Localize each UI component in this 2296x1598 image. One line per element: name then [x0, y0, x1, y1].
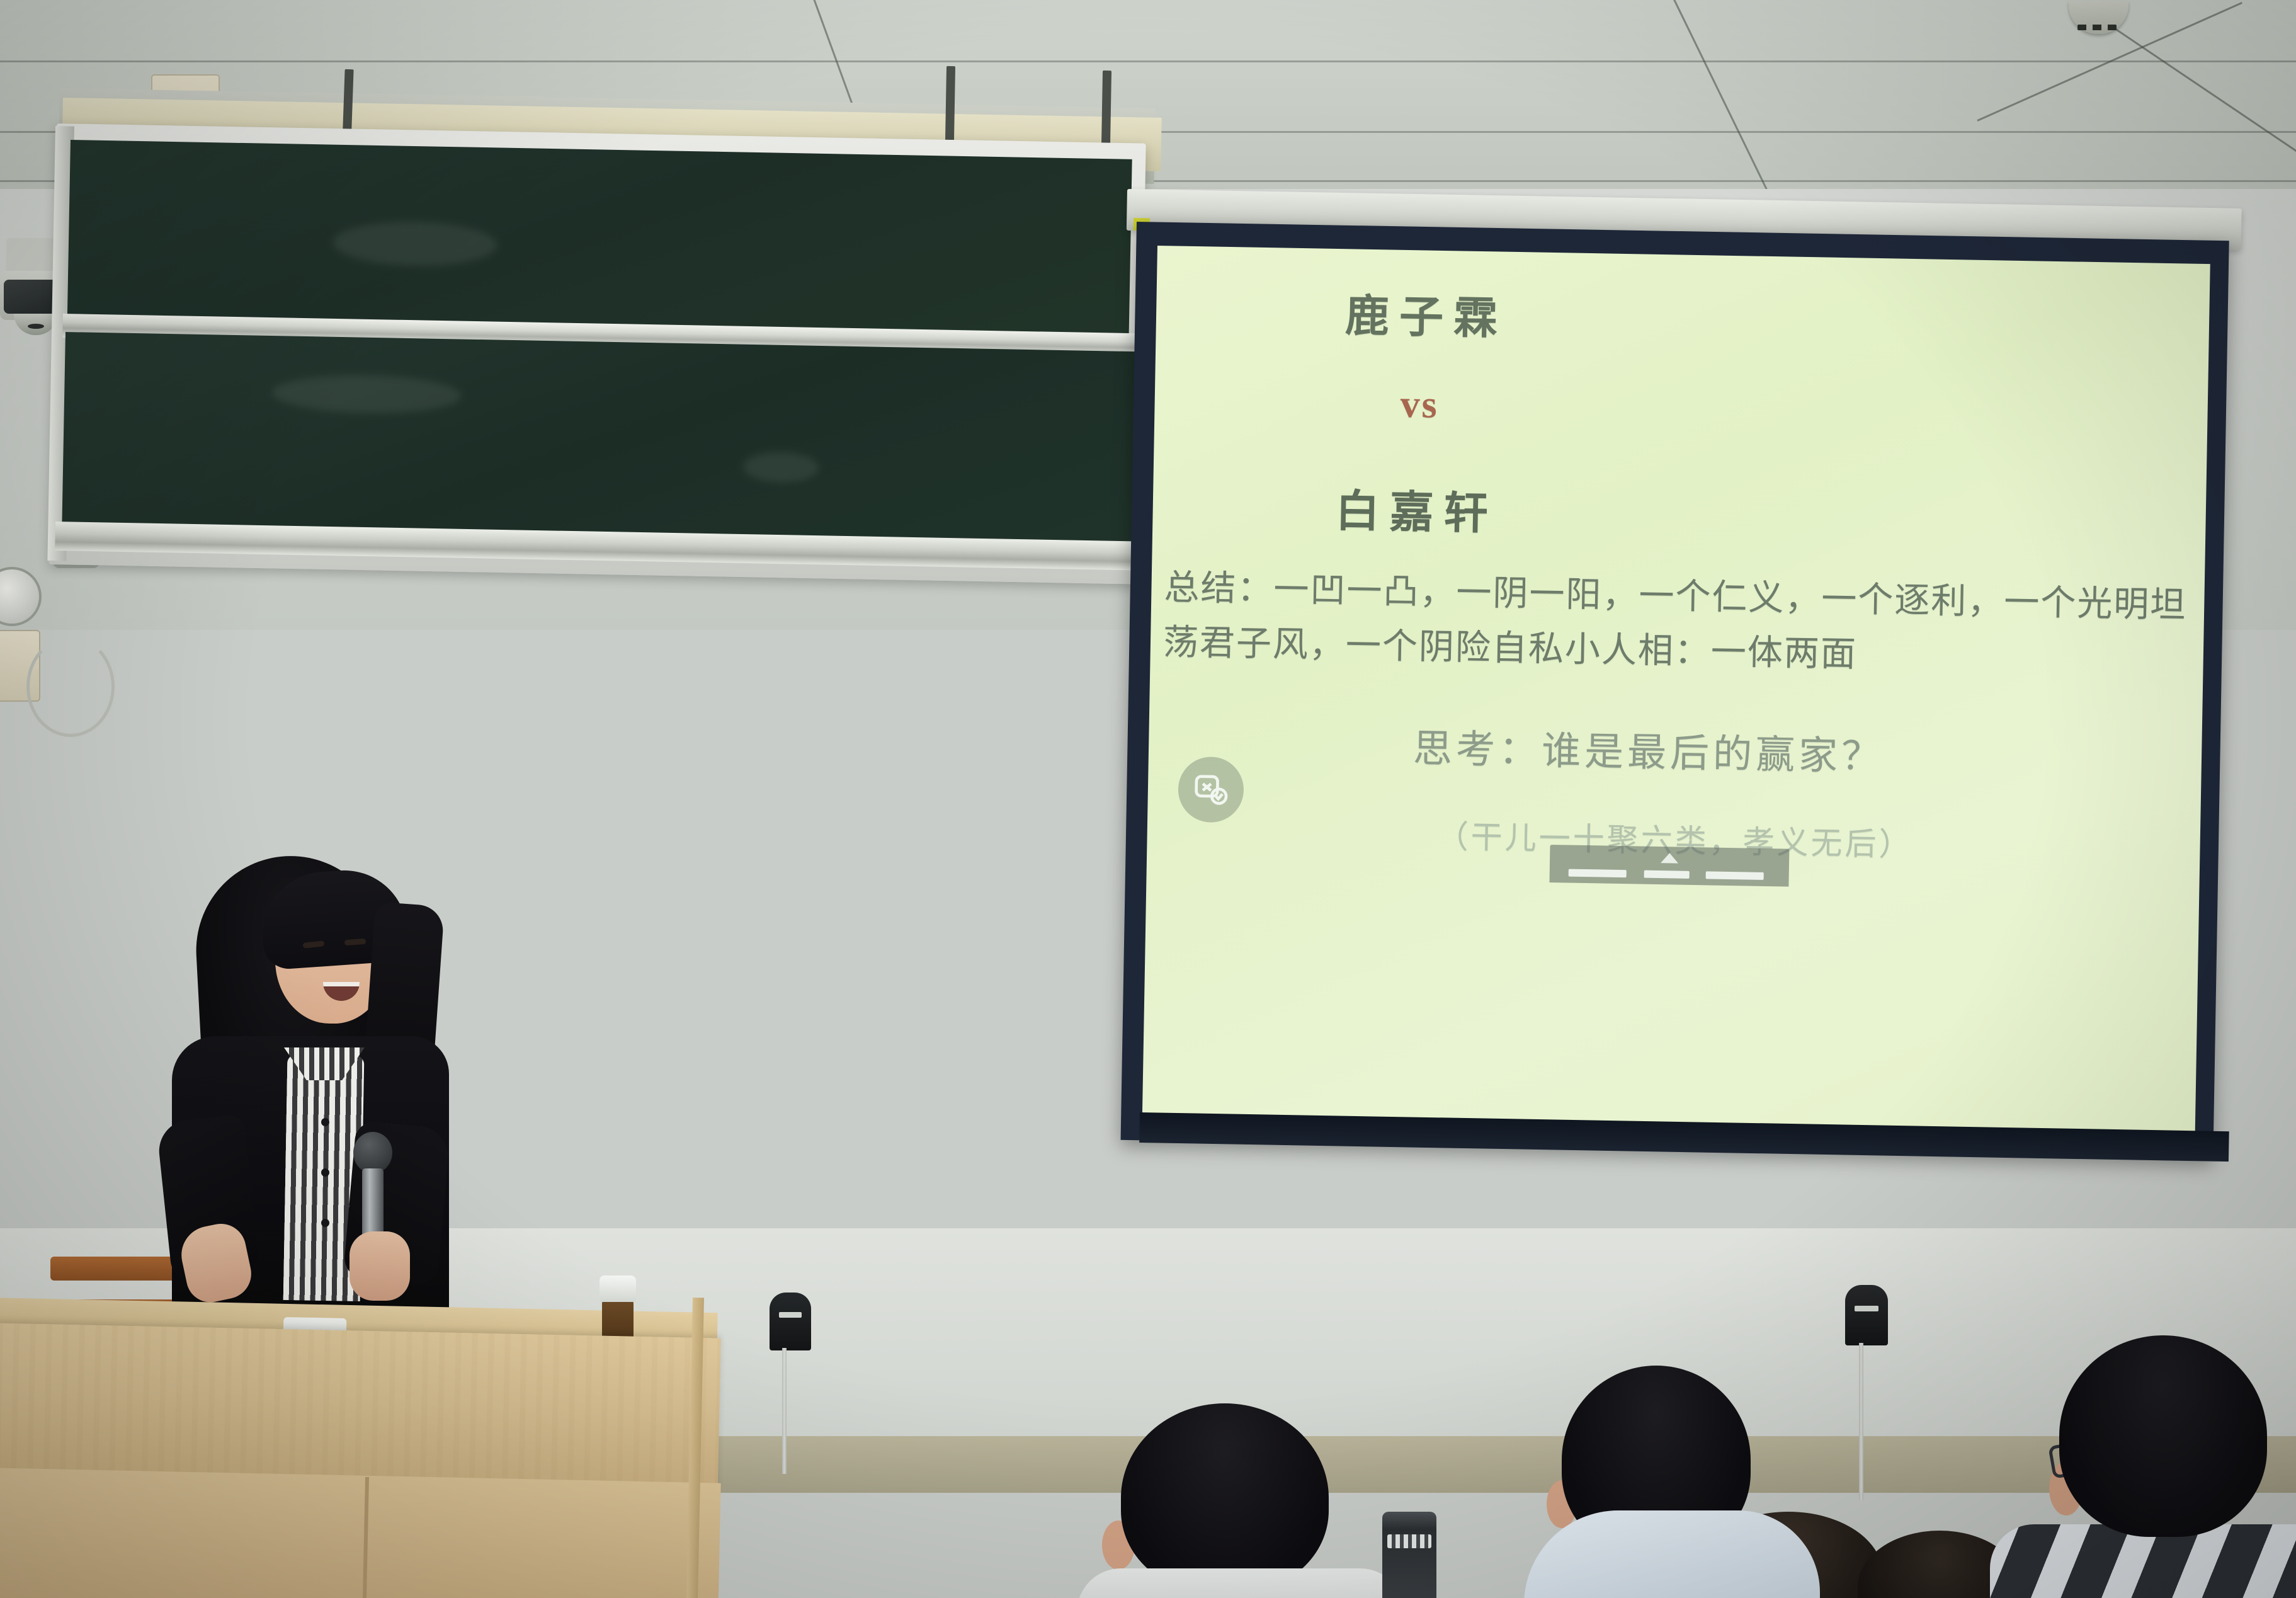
slide-versus-label: vs [1400, 382, 1439, 428]
student-head [1121, 1403, 1329, 1592]
smoke-detector-icon [2069, 1, 2128, 34]
classroom-photo: 鹿子霖 vs 白嘉轩 总结：一凹一凸，一阴一阳，一个仁义，一个逐利，一个光明坦荡… [0, 0, 2296, 1598]
shirt-button [321, 1118, 329, 1126]
presentation-toolbar-overlay[interactable] [1549, 845, 1789, 887]
list-item [1096, 1403, 1373, 1598]
thermos-flask[interactable] [1382, 1512, 1436, 1598]
list-item [1524, 1366, 1820, 1598]
slide-name-top: 鹿子霖 [1344, 280, 1508, 346]
slide-summary-text: 总结：一凹一凸，一阴一阳，一个仁义，一个逐利，一个光明坦荡君子风，一个阴险自私小… [1162, 561, 2197, 688]
slide-question-text: 思考：谁是最后的赢家？ [1412, 716, 1884, 781]
slide-name-bottom: 白嘉轩 [1335, 476, 1499, 542]
board-hanger-right [945, 66, 955, 142]
projection-screen-surface[interactable]: 鹿子霖 vs 白嘉轩 总结：一凹一凸，一阴一阳，一个仁义，一个逐利，一个光明坦荡… [1142, 246, 2210, 1133]
podium-cabinet[interactable] [0, 1468, 721, 1598]
shirt-button [321, 1168, 329, 1177]
board-hanger-far-right [1101, 71, 1111, 146]
presenter [161, 847, 488, 1326]
wall-outlet-center[interactable] [770, 1293, 811, 1350]
outlet-cable-center [782, 1348, 787, 1474]
shirt-button [321, 1219, 329, 1227]
list-item [2034, 1335, 2296, 1598]
screen-share-check-icon [1178, 756, 1244, 823]
cable-loop [26, 636, 115, 737]
student-shoulders [1077, 1568, 1404, 1598]
student-head [2059, 1335, 2267, 1537]
camera-mount [6, 238, 55, 276]
wall-outlet-right[interactable] [1845, 1285, 1888, 1345]
presenter-hand-right [350, 1231, 410, 1301]
outlet-cable-right [1859, 1343, 1863, 1500]
